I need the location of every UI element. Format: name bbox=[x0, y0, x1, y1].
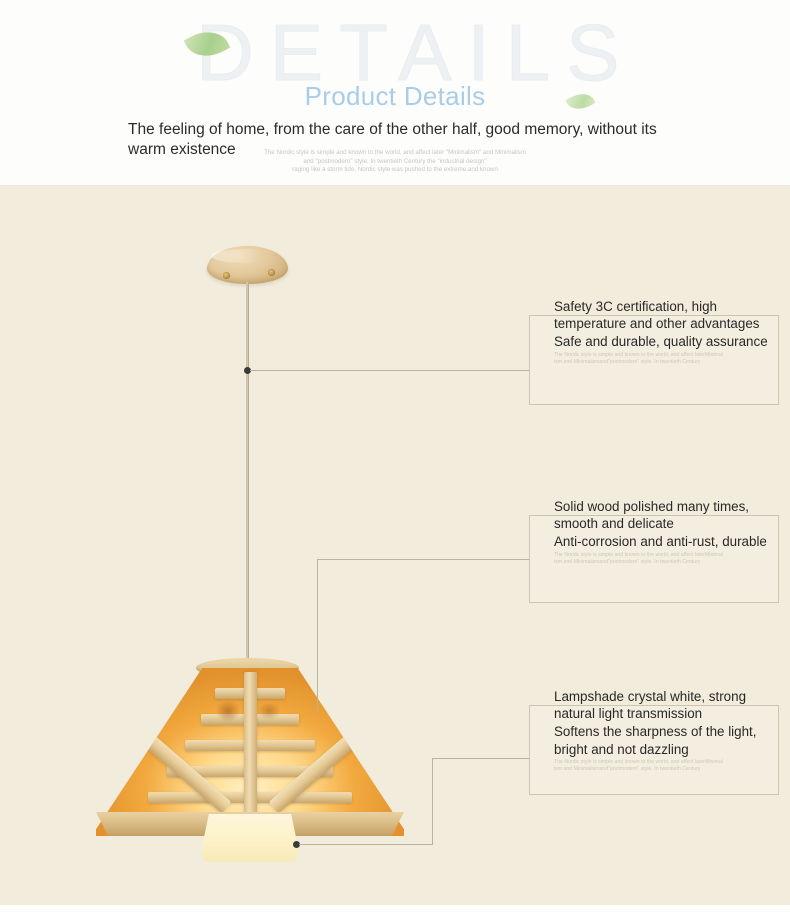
product-detail-page: DETAILS Product Details The feeling of h… bbox=[0, 0, 790, 924]
glass-diffuser bbox=[201, 814, 299, 862]
subcopy-line: and "postmodern" style. In twentieth Cen… bbox=[195, 158, 595, 167]
callout-box-lampshade[interactable]: Lampshade crystal white, strong natural … bbox=[529, 705, 779, 795]
callout-content: Lampshade crystal white, strong natural … bbox=[554, 688, 776, 774]
callout-fineprint: The Nordic style is simple and known to … bbox=[554, 552, 776, 567]
callout-headline: Lampshade crystal white, strong natural … bbox=[554, 688, 776, 722]
callout-fineprint-line: ism and Minimalismand"postmodern" style.… bbox=[554, 359, 776, 366]
callout-content: Safety 3C certification, high temperatur… bbox=[554, 298, 776, 366]
subcopy-block: The Nordic style is simple and known to … bbox=[195, 149, 595, 175]
connector-line bbox=[317, 559, 318, 711]
callout-fineprint-line: The Nordic style is simple and known to … bbox=[554, 352, 776, 359]
connector-line bbox=[250, 370, 530, 371]
callout-fineprint: The Nordic style is simple and known to … bbox=[554, 759, 776, 774]
canopy-screw-icon bbox=[268, 269, 275, 276]
callout-box-safety[interactable]: Safety 3C certification, high temperatur… bbox=[529, 315, 779, 405]
connector-line bbox=[317, 559, 530, 560]
connector-line bbox=[432, 758, 433, 845]
canopy-screw-icon bbox=[223, 272, 230, 279]
callout-fineprint: The Nordic style is simple and known to … bbox=[554, 352, 776, 367]
shade-center-spine bbox=[244, 672, 257, 830]
wooden-slat-shade bbox=[96, 668, 404, 836]
callout-content: Solid wood polished many times, smooth a… bbox=[554, 498, 776, 566]
page-title: Product Details bbox=[0, 81, 790, 112]
connector-line bbox=[432, 758, 530, 759]
connector-line bbox=[299, 844, 433, 845]
callout-fineprint-line: ism and Minimalismand"postmodern" style.… bbox=[554, 766, 776, 773]
callout-fineprint-line: The Nordic style is simple and known to … bbox=[554, 759, 776, 766]
callout-fineprint-line: ism and Minimalismand"postmodern" style.… bbox=[554, 559, 776, 566]
bulb-shadow bbox=[216, 700, 240, 722]
hanging-cord bbox=[246, 282, 249, 666]
callout-subline: Softens the sharpness of the light, brig… bbox=[554, 723, 776, 757]
callout-headline: Safety 3C certification, high temperatur… bbox=[554, 298, 776, 332]
bulb-shadow bbox=[258, 702, 280, 720]
pendant-lamp-illustration bbox=[0, 186, 790, 719]
ceiling-canopy bbox=[207, 246, 288, 284]
callout-subline: Safe and durable, quality assurance bbox=[554, 333, 776, 350]
callout-headline: Solid wood polished many times, smooth a… bbox=[554, 498, 776, 532]
callout-subline: Anti-corrosion and anti-rust, durable bbox=[554, 533, 776, 550]
subcopy-line: raging like a storm tide, Nordic style w… bbox=[195, 166, 595, 175]
page-footer-strip bbox=[0, 905, 790, 924]
callout-box-solid-wood[interactable]: Solid wood polished many times, smooth a… bbox=[529, 515, 779, 603]
subcopy-line: The Nordic style is simple and known to … bbox=[195, 149, 595, 158]
page-header: DETAILS Product Details The feeling of h… bbox=[0, 0, 790, 186]
callout-fineprint-line: The Nordic style is simple and known to … bbox=[554, 552, 776, 559]
